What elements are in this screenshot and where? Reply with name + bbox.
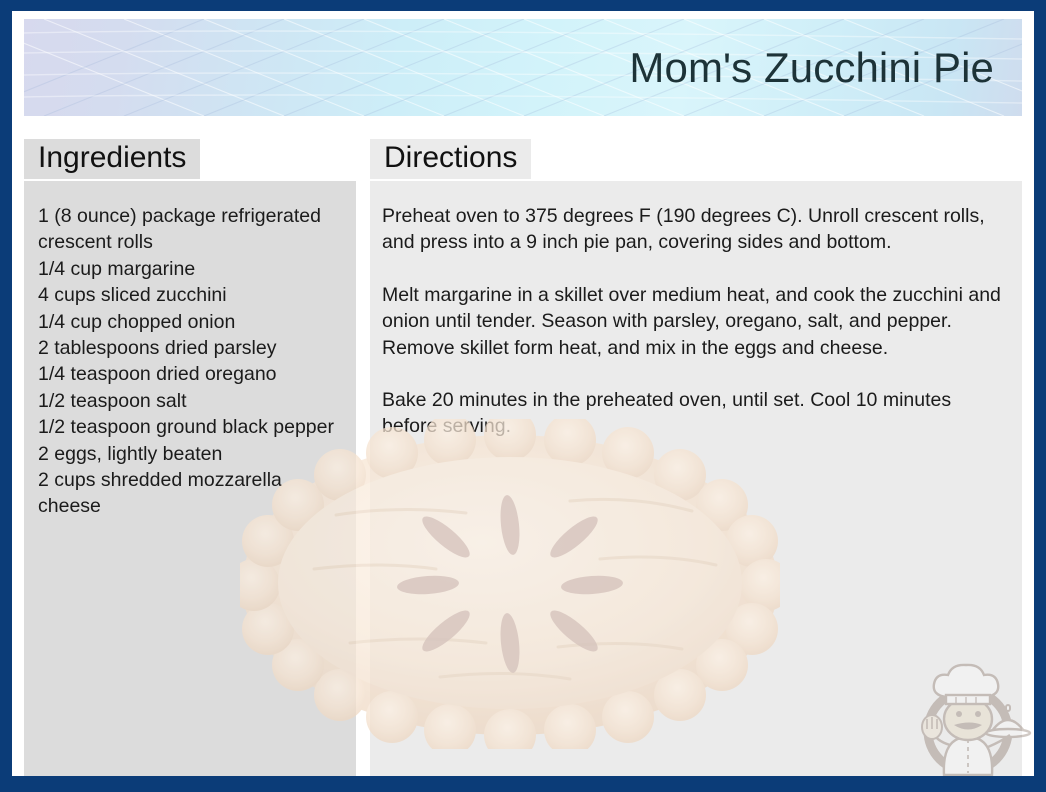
- header-banner: Mom's Zucchini Pie: [24, 19, 1022, 116]
- ingredients-list: 1 (8 ounce) package refrigerated crescen…: [38, 203, 346, 520]
- page-title: Mom's Zucchini Pie: [629, 44, 994, 92]
- direction-step: Bake 20 minutes in the preheated oven, u…: [382, 387, 1008, 440]
- section-heading-ingredients: Ingredients: [24, 139, 200, 179]
- section-heading-directions: Directions: [370, 139, 531, 179]
- directions-panel: Preheat oven to 375 degrees F (190 degre…: [370, 181, 1022, 776]
- direction-step: Preheat oven to 375 degrees F (190 degre…: [382, 203, 1008, 256]
- ingredient-item: 2 tablespoons dried parsley: [38, 335, 346, 361]
- ingredient-item: 2 cups shredded mozzarella cheese: [38, 467, 346, 520]
- recipe-card-inner: Mom's Zucchini Pie Ingredients Direction…: [12, 11, 1034, 776]
- ingredient-item: 1/2 teaspoon ground black pepper: [38, 414, 346, 440]
- ingredient-item: 1/4 teaspoon dried oregano: [38, 361, 346, 387]
- ingredient-item: 1/4 cup margarine: [38, 256, 346, 282]
- recipe-card-frame: Mom's Zucchini Pie Ingredients Direction…: [0, 0, 1046, 792]
- ingredient-item: 1 (8 ounce) package refrigerated crescen…: [38, 203, 346, 256]
- directions-list: Preheat oven to 375 degrees F (190 degre…: [382, 203, 1008, 440]
- ingredient-item: 1/2 teaspoon salt: [38, 388, 346, 414]
- ingredient-item: 2 eggs, lightly beaten: [38, 441, 346, 467]
- ingredient-item: 1/4 cup chopped onion: [38, 309, 346, 335]
- direction-step: Melt margarine in a skillet over medium …: [382, 282, 1008, 361]
- ingredient-item: 4 cups sliced zucchini: [38, 282, 346, 308]
- ingredients-panel: 1 (8 ounce) package refrigerated crescen…: [24, 181, 356, 776]
